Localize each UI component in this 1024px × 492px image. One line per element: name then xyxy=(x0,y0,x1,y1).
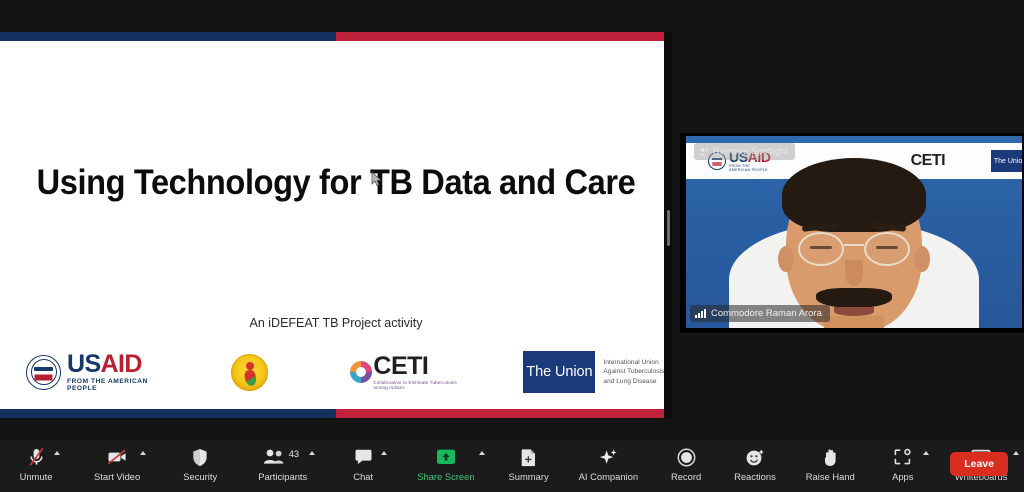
toolbar-label-raise-hand: Raise Hand xyxy=(806,471,855,482)
apps-chevron-up-icon[interactable] xyxy=(923,451,929,455)
participants-icon xyxy=(263,446,287,468)
speaker-video-frame: USAID FROM THE AMERICAN PEOPLE CETI The … xyxy=(686,136,1022,328)
toolbar-button-security[interactable]: Security xyxy=(178,446,222,482)
spotlight-pin-icon xyxy=(699,147,709,157)
stripe-red-segment xyxy=(336,32,672,41)
toolbar-label-reactions: Reactions xyxy=(734,471,776,482)
ceti-logo: CETI Collaborative to Eliminate Tubercul… xyxy=(350,354,465,390)
usaid-seal-icon xyxy=(26,355,61,390)
toolbar-label-participants: Participants xyxy=(258,471,307,482)
toolbar-label-apps: Apps xyxy=(892,471,913,482)
toolbar-label-summary: Summary xyxy=(509,471,549,482)
glasses-bridge xyxy=(844,244,864,246)
stripe-blue-segment xyxy=(0,32,336,41)
speaker-video-tile[interactable]: USAID FROM THE AMERICAN PEOPLE CETI The … xyxy=(680,133,1024,333)
slide-logo-row: USAID FROM THE AMERICAN PEOPLE CETI Coll… xyxy=(0,347,672,397)
usaid-wordmark: USAID FROM THE AMERICAN PEOPLE xyxy=(67,352,153,392)
toolbar-label-share-screen: Share Screen xyxy=(417,471,474,482)
speaker-chin xyxy=(824,316,884,328)
microphone-muted-icon xyxy=(28,446,45,468)
toolbar-label-unmute: Unmute xyxy=(20,471,53,482)
meeting-toolbar: Unmute Start Video xyxy=(0,440,1024,492)
speaker-mouth xyxy=(834,307,874,316)
toolbar-label-security: Security xyxy=(183,471,217,482)
participant-name-label: Commodore Raman Arora xyxy=(711,308,822,319)
zoom-meeting-window: Using Technology for TB Data and Care An… xyxy=(0,0,1024,492)
ceti-mark-icon xyxy=(350,361,372,383)
toolbar-button-summary[interactable]: Summary xyxy=(505,446,553,482)
share-stage-scrollbar[interactable] xyxy=(667,210,670,246)
whiteboards-chevron-up-icon[interactable] xyxy=(1013,451,1019,455)
chat-bubble-icon xyxy=(354,446,373,468)
toolbar-button-reactions[interactable]: Reactions xyxy=(730,446,780,482)
slide-subtitle: An iDEFEAT TB Project activity xyxy=(0,316,672,330)
toolbar-button-share-screen[interactable]: Share Screen xyxy=(413,446,478,482)
stripe-blue-segment-bottom xyxy=(0,409,336,418)
shield-icon xyxy=(192,446,208,468)
raise-hand-icon xyxy=(822,446,839,468)
union-box-text: The Union xyxy=(526,364,592,380)
banner-ceti-text: CETI xyxy=(911,152,945,170)
reactions-smiley-icon xyxy=(745,446,765,468)
speaker-hair xyxy=(782,158,926,232)
sparkle-icon xyxy=(598,446,618,468)
usaid-us-text: US xyxy=(67,350,101,378)
speaker-nose xyxy=(845,260,863,286)
toolbar-label-start-video: Start Video xyxy=(94,471,140,482)
toolbar-button-ai-companion[interactable]: AI Companion xyxy=(575,446,642,482)
record-circle-icon xyxy=(677,446,696,468)
summary-doc-icon xyxy=(520,446,537,468)
chat-chevron-up-icon[interactable] xyxy=(381,451,387,455)
slide-bottom-stripe xyxy=(0,409,672,418)
stripe-red-segment-bottom xyxy=(336,409,672,418)
share-screen-chevron-up-icon[interactable] xyxy=(479,451,485,455)
shared-screen-stage[interactable]: Using Technology for TB Data and Care An… xyxy=(0,32,672,418)
network-signal-icon xyxy=(695,309,706,318)
remove-spotlight-label: Remove Spotlight xyxy=(713,146,788,157)
apps-icon xyxy=(893,446,912,468)
speaker-ear-right xyxy=(914,246,930,272)
ceti-name: CETI xyxy=(373,354,465,379)
toolbar-button-start-video[interactable]: Start Video xyxy=(90,446,144,482)
ceti-tagline: Collaborative to Eliminate Tuberculosis … xyxy=(373,381,465,390)
tb-program-emblem-icon xyxy=(231,354,268,391)
toolbar-button-chat[interactable]: Chat xyxy=(341,446,385,482)
slide-top-stripe xyxy=(0,32,672,41)
usaid-logo: USAID FROM THE AMERICAN PEOPLE xyxy=(26,352,153,392)
toolbar-label-chat: Chat xyxy=(353,471,373,482)
toolbar-button-apps[interactable]: Apps xyxy=(881,446,925,482)
glasses-lens-left xyxy=(798,232,844,266)
speaker-ear-left xyxy=(778,246,794,272)
participant-name-badge: Commodore Raman Arora xyxy=(690,305,830,322)
union-tagline: International Union Against Tuberculosis… xyxy=(603,358,672,387)
toolbar-button-record[interactable]: Record xyxy=(664,446,708,482)
video-camera-off-icon xyxy=(106,446,128,468)
slide-title: Using Technology for TB Data and Care xyxy=(24,163,649,203)
toolbar-button-raise-hand[interactable]: Raise Hand xyxy=(802,446,859,482)
participants-count-badge: 43 xyxy=(289,448,299,459)
banner-union-box: The Union xyxy=(991,150,1022,172)
toolbar-button-participants[interactable]: 43 Participants xyxy=(254,446,311,482)
toolbar-label-ai-companion: AI Companion xyxy=(579,471,638,482)
usaid-tagline: FROM THE AMERICAN PEOPLE xyxy=(67,379,153,392)
ceti-wordmark: CETI Collaborative to Eliminate Tubercul… xyxy=(373,354,465,390)
union-box: The Union xyxy=(523,351,595,393)
toolbar-label-record: Record xyxy=(671,471,701,482)
share-screen-icon xyxy=(434,446,458,468)
toolbar-items: Unmute Start Video xyxy=(0,440,1024,492)
union-logo: The Union International Union Against Tu… xyxy=(523,351,672,393)
unmute-chevron-up-icon[interactable] xyxy=(54,451,60,455)
glasses-lens-right xyxy=(864,232,910,266)
remove-spotlight-button[interactable]: Remove Spotlight xyxy=(694,143,795,160)
participants-chevron-up-icon[interactable] xyxy=(309,451,315,455)
usaid-aid-text: AID xyxy=(101,350,142,378)
start-video-chevron-up-icon[interactable] xyxy=(140,451,146,455)
banner-usaid-tagline: FROM THE AMERICAN PEOPLE xyxy=(729,165,771,172)
banner-union-box-text: The Union xyxy=(994,158,1022,165)
leave-meeting-button[interactable]: Leave xyxy=(950,452,1008,476)
banner-union-logo: The Union International Union Against Tu… xyxy=(991,150,1022,172)
slide-body: Using Technology for TB Data and Care An… xyxy=(0,41,672,409)
tb-program-emblem-logo xyxy=(231,354,268,391)
toolbar-button-unmute[interactable]: Unmute xyxy=(14,446,58,482)
